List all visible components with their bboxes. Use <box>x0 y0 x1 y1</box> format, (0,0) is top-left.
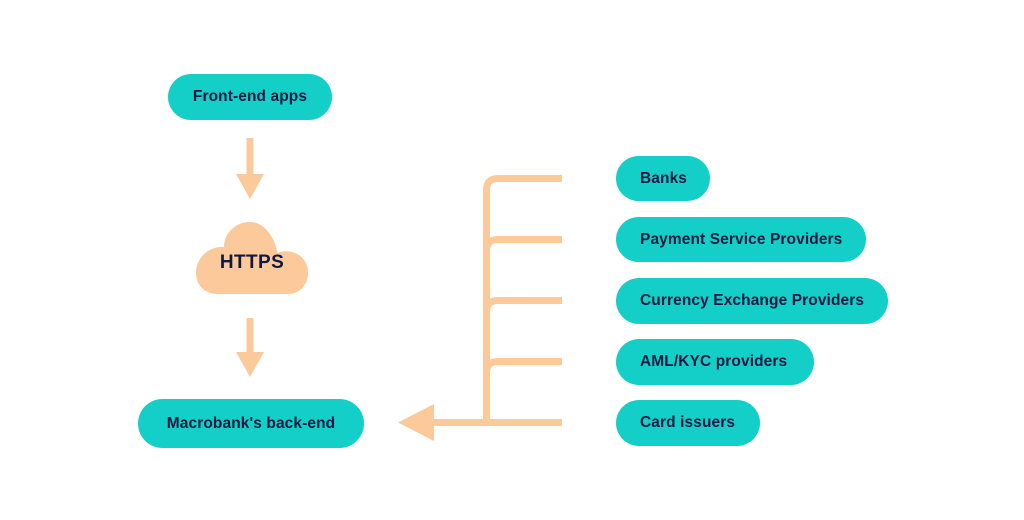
arrow-frontend-to-https <box>236 138 264 199</box>
arrow-providers-to-backend <box>430 179 562 423</box>
node-provider-banks[interactable]: Banks <box>616 156 710 201</box>
cloud-label: HTTPS <box>192 220 312 296</box>
cloud-https[interactable]: HTTPS <box>192 220 312 296</box>
node-provider-currency-exchange-providers[interactable]: Currency Exchange Providers <box>616 278 888 324</box>
node-provider-card-issuers[interactable]: Card issuers <box>616 400 760 446</box>
node-provider-aml-kyc-providers[interactable]: AML/KYC providers <box>616 339 814 385</box>
arrowhead-to-backend <box>398 404 434 441</box>
diagram-canvas: Front-end apps HTTPS Macrobank's back-en… <box>0 0 1024 520</box>
node-macrobank-backend[interactable]: Macrobank's back-end <box>138 399 364 448</box>
arrow-https-to-backend <box>236 318 264 377</box>
node-frontend-apps[interactable]: Front-end apps <box>168 74 332 120</box>
node-provider-payment-service-providers[interactable]: Payment Service Providers <box>616 217 866 262</box>
